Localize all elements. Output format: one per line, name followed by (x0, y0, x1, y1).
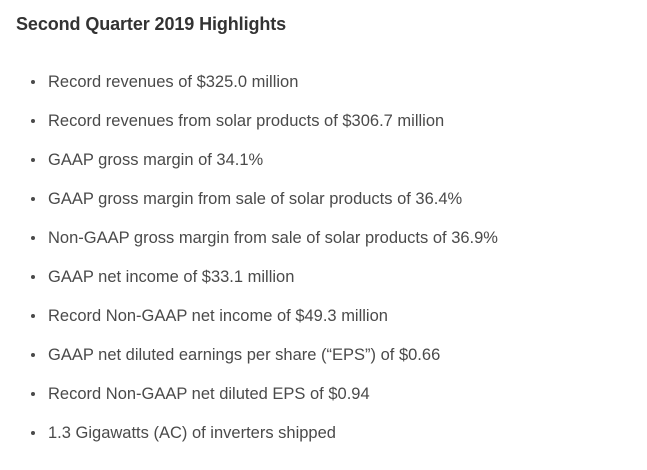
list-item: Record Non-GAAP net diluted EPS of $0.94 (0, 374, 647, 413)
bullet-icon (31, 275, 35, 279)
list-item-label: GAAP net income of $33.1 million (48, 267, 294, 287)
bullet-icon (31, 314, 35, 318)
list-item-label: Record Non-GAAP net diluted EPS of $0.94 (48, 384, 370, 404)
list-item-label: GAAP net diluted earnings per share (“EP… (48, 345, 440, 365)
highlights-page: Second Quarter 2019 Highlights Record re… (0, 0, 647, 470)
bullet-icon (31, 431, 35, 435)
list-item-label: Record revenues from solar products of $… (48, 111, 444, 131)
list-item: GAAP gross margin from sale of solar pro… (0, 179, 647, 218)
bullet-icon (31, 80, 35, 84)
list-item: Record revenues from solar products of $… (0, 101, 647, 140)
list-item-label: Non-GAAP gross margin from sale of solar… (48, 228, 498, 248)
bullet-icon (31, 236, 35, 240)
list-item-label: 1.3 Gigawatts (AC) of inverters shipped (48, 423, 336, 443)
bullet-icon (31, 197, 35, 201)
list-item: GAAP net income of $33.1 million (0, 257, 647, 296)
list-item-label: GAAP gross margin from sale of solar pro… (48, 189, 462, 209)
list-item: 1.3 Gigawatts (AC) of inverters shipped (0, 413, 647, 452)
highlights-list: Record revenues of $325.0 million Record… (0, 62, 647, 452)
bullet-icon (31, 158, 35, 162)
list-item: GAAP net diluted earnings per share (“EP… (0, 335, 647, 374)
list-item-label: Record Non-GAAP net income of $49.3 mill… (48, 306, 388, 326)
bullet-icon (31, 353, 35, 357)
list-item: GAAP gross margin of 34.1% (0, 140, 647, 179)
list-item: Non-GAAP gross margin from sale of solar… (0, 218, 647, 257)
page-title: Second Quarter 2019 Highlights (16, 13, 286, 35)
list-item-label: Record revenues of $325.0 million (48, 72, 298, 92)
bullet-icon (31, 392, 35, 396)
list-item-label: GAAP gross margin of 34.1% (48, 150, 263, 170)
list-item: Record Non-GAAP net income of $49.3 mill… (0, 296, 647, 335)
list-item: Record revenues of $325.0 million (0, 62, 647, 101)
bullet-icon (31, 119, 35, 123)
